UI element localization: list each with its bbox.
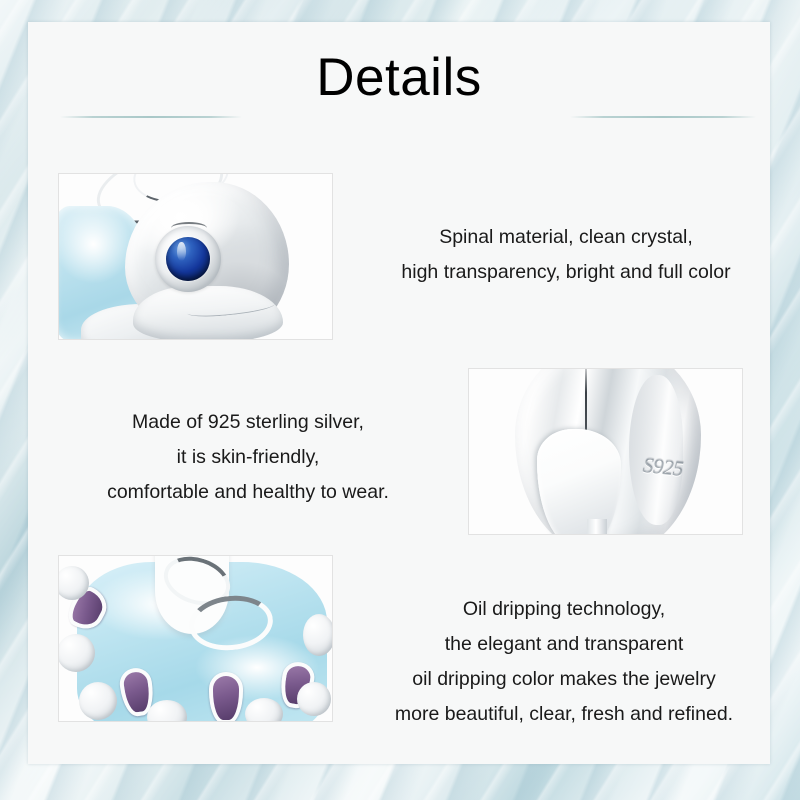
hallmark-stamp-text: S925 [642,453,684,482]
silver-bead [303,614,333,656]
content-panel: Details Spinal material, clean crystal, … [28,22,770,764]
title-divider-right [570,116,756,118]
silver-stem-shape [587,519,607,535]
silver-groove [629,375,683,525]
title-divider-left [60,116,242,118]
product-detail-page: Details Spinal material, clean crystal, … [0,0,800,800]
caption-spinal-material: Spinal material, clean crystal, high tra… [362,220,770,290]
caption-line: oil dripping color makes the jewelry [358,662,770,697]
charm-head-crystal-eye-photo [58,173,333,340]
caption-line: Spinal material, clean crystal, [362,220,770,255]
silver-bead [245,698,283,722]
photo-scene [59,556,332,721]
blue-enamel-detail-photo [58,555,333,722]
page-title: Details [28,50,770,106]
caption-line: the elegant and transparent [358,627,770,662]
caption-line: Oil dripping technology, [358,592,770,627]
page-header: Details [28,50,770,130]
silver-bead [58,634,95,672]
photo-scene [59,174,332,339]
silver-lobe-shape [537,429,621,535]
caption-line: high transparency, bright and full color [362,255,770,290]
caption-sterling-silver: Made of 925 sterling silver, it is skin-… [28,405,468,510]
silver-bead [297,682,331,716]
purple-teardrop [209,672,243,722]
caption-oil-dripping: Oil dripping technology, the elegant and… [358,592,770,732]
caption-line: more beautiful, clear, fresh and refined… [358,697,770,732]
blue-crystal-eye [166,237,210,281]
photo-scene: S925 [469,369,742,534]
caption-line: comfortable and healthy to wear. [28,475,468,510]
caption-line: it is skin-friendly, [28,440,468,475]
brow-line [171,222,207,234]
silver-bead [79,682,117,720]
s925-hallmark-photo: S925 [468,368,743,535]
caption-line: Made of 925 sterling silver, [28,405,468,440]
